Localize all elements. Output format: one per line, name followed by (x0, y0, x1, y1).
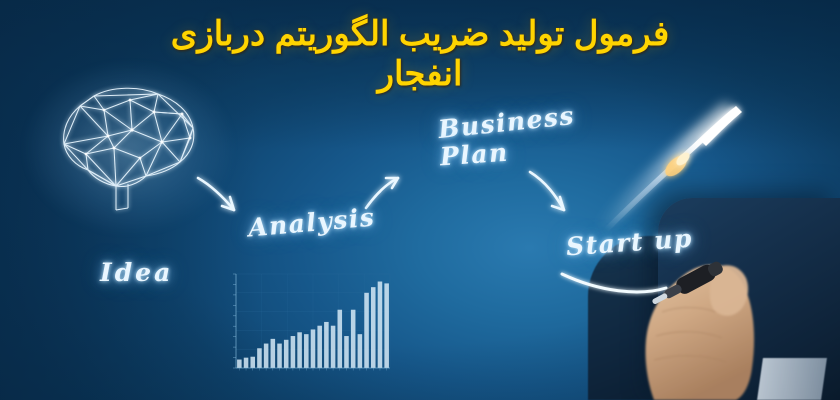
banner-root: فرمول تولید ضریب الگوریتم دربازی انفجار (0, 0, 840, 400)
label-idea: Idea (100, 258, 173, 287)
hand-illustration (0, 0, 840, 400)
label-plan: Plan (439, 138, 510, 172)
underline-stroke (562, 274, 666, 292)
hand-svg (0, 0, 840, 400)
